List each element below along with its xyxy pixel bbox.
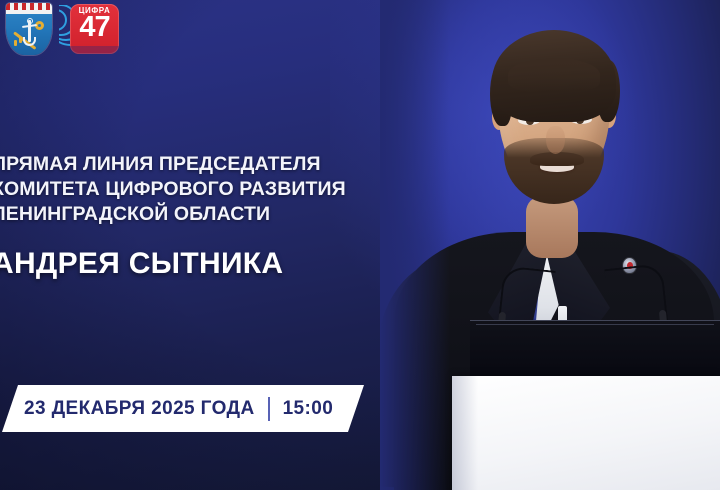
speaker-neck	[526, 196, 578, 258]
emblem-merlon-base	[6, 10, 52, 14]
speaker-nose	[546, 126, 565, 154]
date-time-separator	[268, 397, 270, 421]
emblem-shield	[6, 3, 52, 55]
speaker-mustache	[530, 152, 584, 166]
event-time: 15:00	[283, 398, 334, 420]
photo-left-blend	[380, 0, 450, 490]
leningrad-oblast-coat-of-arms-icon	[6, 3, 52, 55]
date-time-content: 23 ДЕКАБРЯ 2025 ГОДА 15:00	[24, 397, 333, 421]
logo-row: ЦИФРА 47	[6, 3, 119, 55]
headline-line-3: ЛЕНИНГРАДСКОЙ ОБЛАСТИ	[0, 202, 400, 227]
podium-top-panel	[470, 320, 720, 382]
emblem-anchor-icon	[23, 20, 35, 46]
podium-body	[452, 376, 720, 490]
headline-line-2: КОМИТЕТА ЦИФРОВОГО РАЗВИТИЯ	[0, 177, 400, 202]
date-time-ribbon: 23 ДЕКАБРЯ 2025 ГОДА 15:00	[2, 385, 364, 432]
cifra-47-number: 47	[70, 13, 119, 42]
speaker-name: АНДРЕЯ СЫТНИКА	[0, 245, 283, 283]
cifra-47-plate-shade	[70, 46, 119, 54]
headline-block: ПРЯМАЯ ЛИНИЯ ПРЕДСЕДАТЕЛЯ КОМИТЕТА ЦИФРО…	[0, 152, 400, 227]
podium-side-shadow	[452, 376, 478, 490]
speaker-photo	[380, 0, 720, 490]
broadcast-announcement-banner: ЦИФРА 47 ПРЯМАЯ ЛИНИЯ ПРЕДСЕДАТЕЛЯ КОМИТ…	[0, 0, 720, 490]
event-date: 23 ДЕКАБРЯ 2025 ГОДА	[24, 398, 255, 420]
cifra-47-plate: ЦИФРА 47	[70, 4, 119, 54]
cifra-47-logo: ЦИФРА 47	[59, 3, 119, 55]
headline-line-1: ПРЯМАЯ ЛИНИЯ ПРЕДСЕДАТЕЛЯ	[0, 152, 400, 177]
speaker-hair	[492, 30, 616, 122]
